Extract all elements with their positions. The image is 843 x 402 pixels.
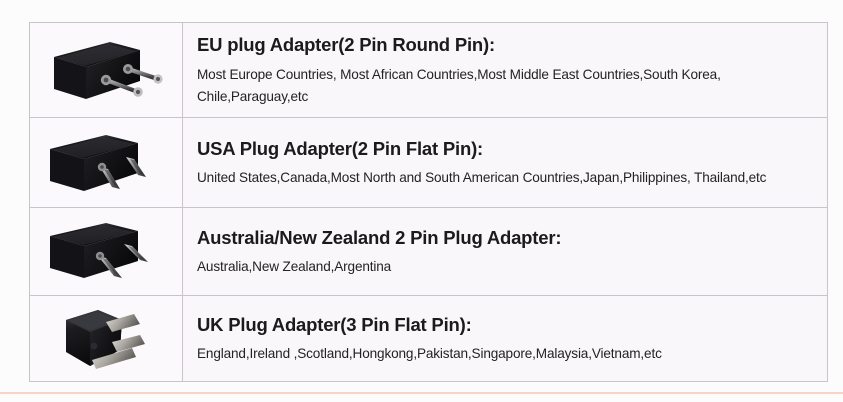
plug-adapter-table: EU plug Adapter(2 Pin Round Pin): Most E… (29, 22, 828, 382)
plug-image-cell (30, 208, 183, 295)
row-description: England,Ireland ,Scotland,Hongkong,Pakis… (197, 343, 817, 365)
plug-image-cell (30, 23, 183, 117)
plug-text-cell: Australia/New Zealand 2 Pin Plug Adapter… (183, 208, 827, 295)
page-root: EU plug Adapter(2 Pin Round Pin): Most E… (0, 0, 843, 402)
plug-text-cell: EU plug Adapter(2 Pin Round Pin): Most E… (183, 23, 827, 117)
row-title: UK Plug Adapter(3 Pin Flat Pin): (197, 314, 817, 336)
table-row: UK Plug Adapter(3 Pin Flat Pin): England… (30, 296, 827, 381)
table-row: USA Plug Adapter(2 Pin Flat Pin): United… (30, 118, 827, 208)
row-description: Most Europe Countries, Most African Coun… (197, 64, 817, 108)
eu-plug-adapter-icon (40, 33, 172, 107)
table-row: Australia/New Zealand 2 Pin Plug Adapter… (30, 208, 827, 296)
plug-image-cell (30, 296, 183, 381)
row-title: EU plug Adapter(2 Pin Round Pin): (197, 34, 817, 56)
usa-plug-adapter-icon (40, 127, 172, 199)
row-description: United States,Canada,Most North and Sout… (197, 167, 817, 189)
table-row: EU plug Adapter(2 Pin Round Pin): Most E… (30, 23, 827, 118)
row-description: Australia,New Zealand,Argentina (197, 256, 817, 278)
row-title: Australia/New Zealand 2 Pin Plug Adapter… (197, 227, 817, 249)
australia-new-zealand-plug-adapter-icon (40, 216, 172, 288)
plug-image-cell (30, 118, 183, 207)
plug-text-cell: UK Plug Adapter(3 Pin Flat Pin): England… (183, 296, 827, 381)
plug-text-cell: USA Plug Adapter(2 Pin Flat Pin): United… (183, 118, 827, 207)
uk-plug-adapter-icon (46, 302, 166, 376)
bottom-accent-rule (0, 392, 843, 394)
row-title: USA Plug Adapter(2 Pin Flat Pin): (197, 138, 817, 160)
